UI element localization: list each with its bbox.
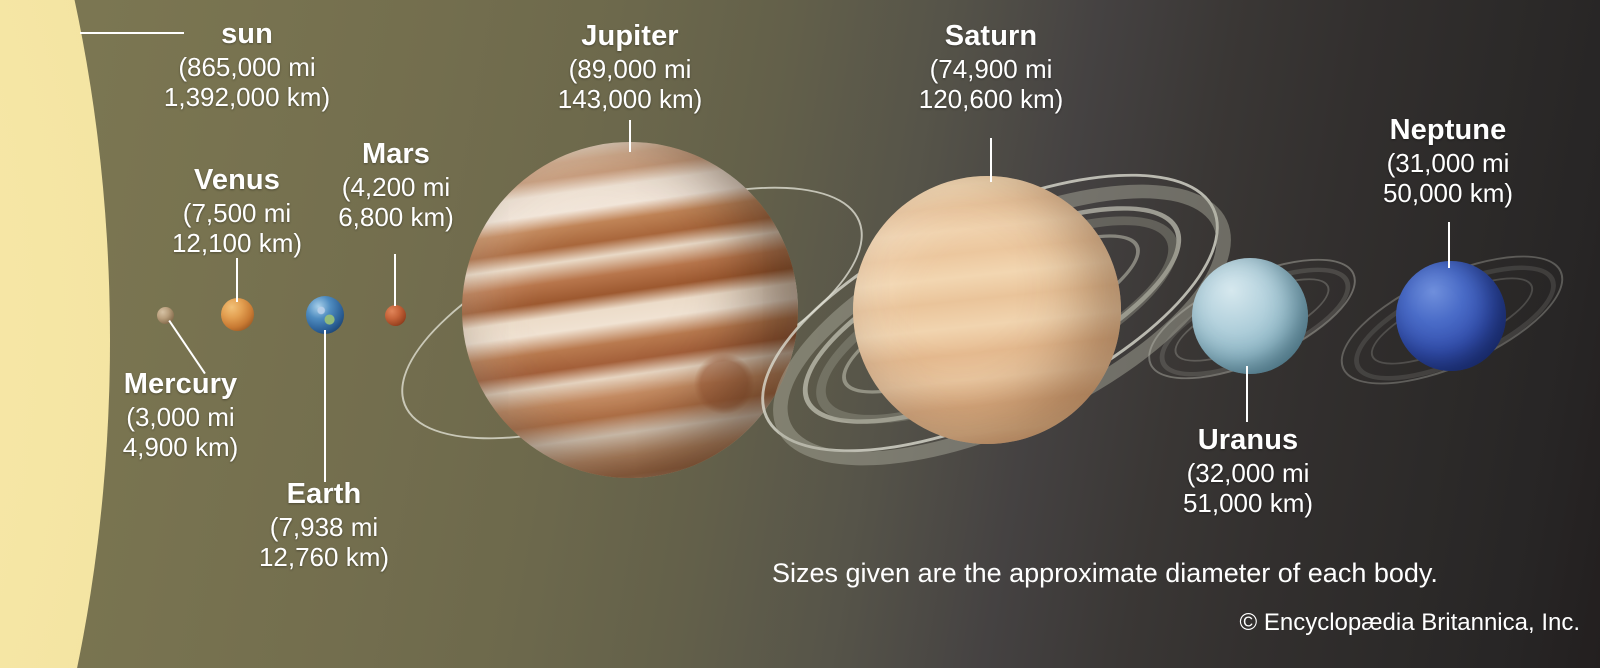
sun-name: sun	[122, 18, 372, 52]
neptune-name: Neptune	[1332, 114, 1564, 148]
neptune-leader-line	[1448, 222, 1450, 268]
label-mercury: Mercury (3,000 mi 4,900 km)	[108, 368, 253, 462]
mars-name: Mars	[322, 138, 470, 172]
planet-jupiter	[462, 142, 798, 478]
label-uranus: Uranus (32,000 mi 51,000 km)	[1160, 424, 1336, 518]
label-saturn: Saturn (74,900 mi 120,600 km)	[898, 20, 1084, 114]
planet-earth	[306, 296, 344, 334]
venus-leader-line	[236, 258, 238, 302]
uranus-name: Uranus	[1160, 424, 1336, 458]
jupiter-diam-mi: (89,000 mi	[538, 54, 722, 84]
saturn-leader-line	[990, 138, 992, 182]
venus-diam-km: 12,100 km)	[152, 228, 322, 258]
sun-diam-km: 1,392,000 km)	[122, 82, 372, 112]
venus-diam-mi: (7,500 mi	[152, 198, 322, 228]
mars-diam-km: 6,800 km)	[322, 202, 470, 232]
planet-neptune	[1396, 261, 1506, 371]
mercury-leader-line	[168, 320, 205, 374]
mars-diam-mi: (4,200 mi	[322, 172, 470, 202]
uranus-diam-mi: (32,000 mi	[1160, 458, 1336, 488]
neptune-diam-mi: (31,000 mi	[1332, 148, 1564, 178]
earth-name: Earth	[238, 478, 410, 512]
solar-system-diagram: sun (865,000 mi 1,392,000 km) Mercury (3…	[0, 0, 1600, 668]
uranus-diam-km: 51,000 km)	[1160, 488, 1336, 518]
sun-diam-mi: (865,000 mi	[122, 52, 372, 82]
saturn-diam-mi: (74,900 mi	[898, 54, 1084, 84]
jupiter-leader-line	[629, 120, 631, 152]
planet-saturn	[853, 176, 1121, 444]
venus-name: Venus	[152, 164, 322, 198]
neptune-diam-km: 50,000 km)	[1332, 178, 1564, 208]
earth-diam-mi: (7,938 mi	[238, 512, 410, 542]
label-earth: Earth (7,938 mi 12,760 km)	[238, 478, 410, 572]
earth-diam-km: 12,760 km)	[238, 542, 410, 572]
jupiter-diam-km: 143,000 km)	[538, 84, 722, 114]
planet-mars	[385, 305, 406, 326]
label-jupiter: Jupiter (89,000 mi 143,000 km)	[538, 20, 722, 114]
uranus-leader-line	[1246, 366, 1248, 422]
label-sun: sun (865,000 mi 1,392,000 km)	[122, 18, 372, 112]
jupiter-name: Jupiter	[538, 20, 722, 54]
mercury-name: Mercury	[108, 368, 253, 402]
figure-caption: Sizes given are the approximate diameter…	[772, 558, 1438, 589]
label-neptune: Neptune (31,000 mi 50,000 km)	[1332, 114, 1564, 208]
mars-leader-line	[394, 254, 396, 306]
sun-body	[0, 0, 110, 668]
mercury-diam-km: 4,900 km)	[108, 432, 253, 462]
label-venus: Venus (7,500 mi 12,100 km)	[152, 164, 322, 258]
mercury-diam-mi: (3,000 mi	[108, 402, 253, 432]
figure-credit: © Encyclopædia Britannica, Inc.	[1239, 609, 1580, 637]
saturn-name: Saturn	[898, 20, 1084, 54]
earth-leader-line	[324, 330, 326, 482]
saturn-diam-km: 120,600 km)	[898, 84, 1084, 114]
label-mars: Mars (4,200 mi 6,800 km)	[322, 138, 470, 232]
planet-uranus	[1192, 258, 1308, 374]
planet-venus	[221, 298, 254, 331]
